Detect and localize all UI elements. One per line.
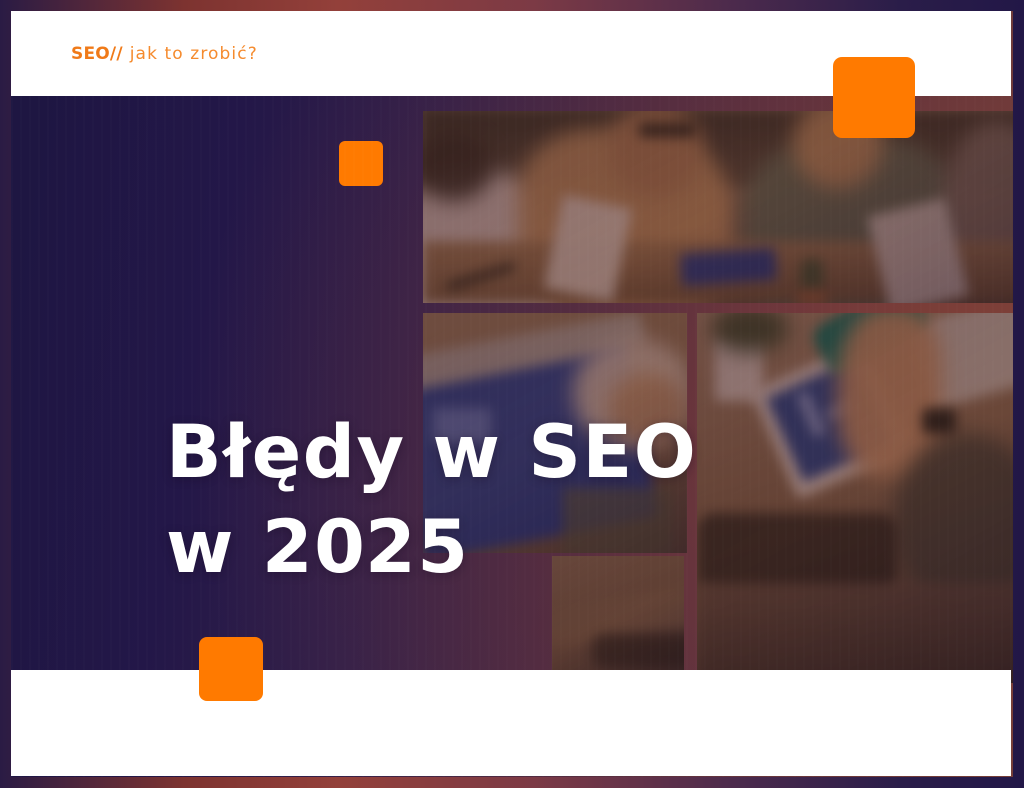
orange-square-bottom-left	[199, 637, 263, 701]
headline-line-2-suffix: 25	[365, 505, 470, 590]
headline-line-2-prefix: w 2	[166, 505, 314, 590]
slide-headline: Błędy w SEO w 2025	[166, 406, 786, 596]
logo-mark-text: SEO//	[71, 44, 123, 64]
headline-line-1: Błędy w SEO	[166, 410, 697, 495]
footer-bar	[11, 670, 1011, 776]
photo-meeting-team-wide	[423, 111, 1013, 303]
brand-logo[interactable]: SEO// jak to zrobić?	[71, 11, 258, 96]
headline-line-2: w 2025	[166, 501, 786, 596]
orange-square-top-right	[833, 57, 915, 138]
headline-stylised-zero: 0	[314, 505, 365, 590]
logo-tagline-text: jak to zrobić?	[130, 44, 258, 64]
orange-square-mid-left	[339, 141, 383, 186]
title-slide: Błędy w SEO w 2025 SEO// jak to zrobić?	[0, 0, 1024, 788]
